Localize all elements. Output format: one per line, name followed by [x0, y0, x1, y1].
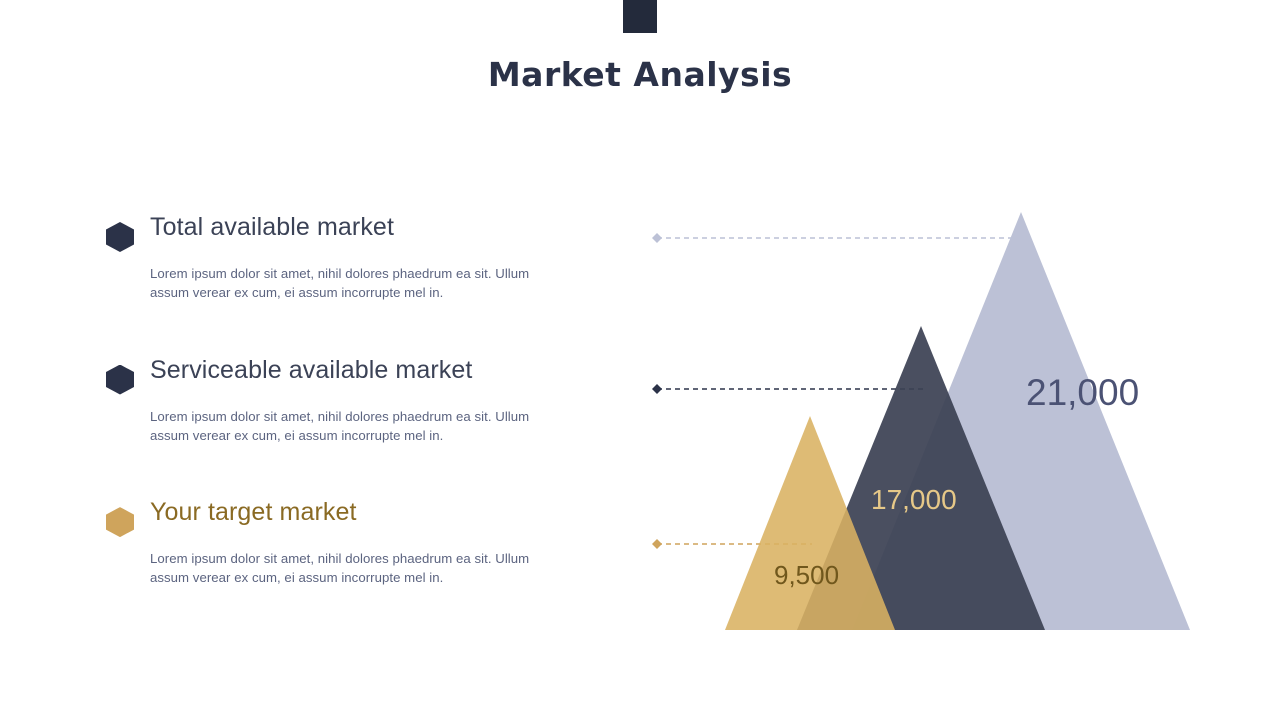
- value-label-som: 9,500: [774, 560, 839, 591]
- list-item-tam[interactable]: Total available market Lorem ipsum dolor…: [106, 212, 576, 303]
- market-segment-list: Total available market Lorem ipsum dolor…: [106, 212, 576, 588]
- page-title: Market Analysis: [0, 55, 1280, 94]
- leader-line-tam: [652, 233, 1012, 243]
- value-label-sam: 17,000: [871, 484, 957, 516]
- segment-description: Lorem ipsum dolor sit amet, nihil dolore…: [150, 407, 550, 445]
- segment-title: Total available market: [150, 212, 576, 243]
- segment-title: Serviceable available market: [150, 355, 576, 386]
- list-item-sam[interactable]: Serviceable available market Lorem ipsum…: [106, 355, 576, 446]
- list-item-som[interactable]: Your target market Lorem ipsum dolor sit…: [106, 497, 576, 588]
- slide: Market Analysis Total available market L…: [0, 0, 1280, 720]
- market-pyramid-chart: [620, 180, 1240, 660]
- hexagon-icon: [106, 222, 134, 252]
- leader-line-sam: [652, 384, 926, 394]
- hexagon-icon: [106, 365, 134, 395]
- segment-description: Lorem ipsum dolor sit amet, nihil dolore…: [150, 549, 550, 587]
- value-label-tam: 21,000: [1026, 372, 1139, 414]
- segment-title: Your target market: [150, 497, 576, 528]
- hexagon-icon: [106, 507, 134, 537]
- segment-description: Lorem ipsum dolor sit amet, nihil dolore…: [150, 264, 550, 302]
- title-badge: [623, 0, 657, 33]
